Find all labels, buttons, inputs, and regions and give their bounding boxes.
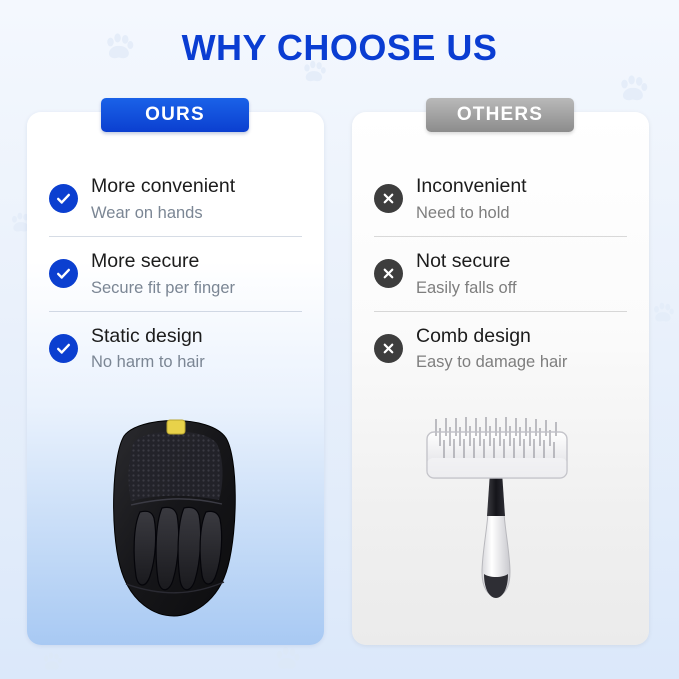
feature-head: More convenient [91, 174, 302, 200]
feature-sub: Secure fit per finger [91, 277, 302, 299]
list-item: Not secure Easily falls off [374, 249, 627, 312]
paw-print-icon [650, 300, 676, 326]
list-item: More secure Secure fit per finger [49, 249, 302, 312]
grooming-glove-product-image [27, 402, 324, 627]
feature-sub: Easily falls off [416, 277, 627, 299]
others-feature-list: Inconvenient Need to hold Not secure Eas… [374, 174, 627, 398]
others-ribbon-label: OTHERS [426, 98, 574, 132]
feature-head: Inconvenient [416, 174, 627, 200]
feature-head: More secure [91, 249, 302, 275]
feature-sub: Easy to damage hair [416, 351, 627, 373]
feature-head: Not secure [416, 249, 627, 275]
page-title: WHY CHOOSE US [0, 27, 679, 69]
feature-head: Static design [91, 324, 302, 350]
feature-sub: Wear on hands [91, 202, 302, 224]
slicker-brush-product-image [352, 402, 649, 627]
paw-print-icon [40, 650, 64, 674]
list-item: More convenient Wear on hands [49, 174, 302, 237]
ours-ribbon-label: OURS [101, 98, 249, 132]
cross-icon [374, 259, 403, 288]
feature-sub: Need to hold [416, 202, 627, 224]
paw-print-icon [272, 644, 302, 674]
ours-card: OURS More convenient Wear on hands More … [27, 112, 324, 645]
others-card: OTHERS Inconvenient Need to hold Not sec… [352, 112, 649, 645]
ours-feature-list: More convenient Wear on hands More secur… [49, 174, 302, 398]
paw-print-icon [616, 72, 650, 106]
cross-icon [374, 184, 403, 213]
list-item: Inconvenient Need to hold [374, 174, 627, 237]
comparison-infographic: WHY CHOOSE US OURS More convenient Wear … [0, 0, 679, 679]
list-item: Comb design Easy to damage hair [374, 324, 627, 386]
check-icon [49, 334, 78, 363]
list-item: Static design No harm to hair [49, 324, 302, 386]
feature-sub: No harm to hair [91, 351, 302, 373]
feature-head: Comb design [416, 324, 627, 350]
cross-icon [374, 334, 403, 363]
check-icon [49, 184, 78, 213]
check-icon [49, 259, 78, 288]
